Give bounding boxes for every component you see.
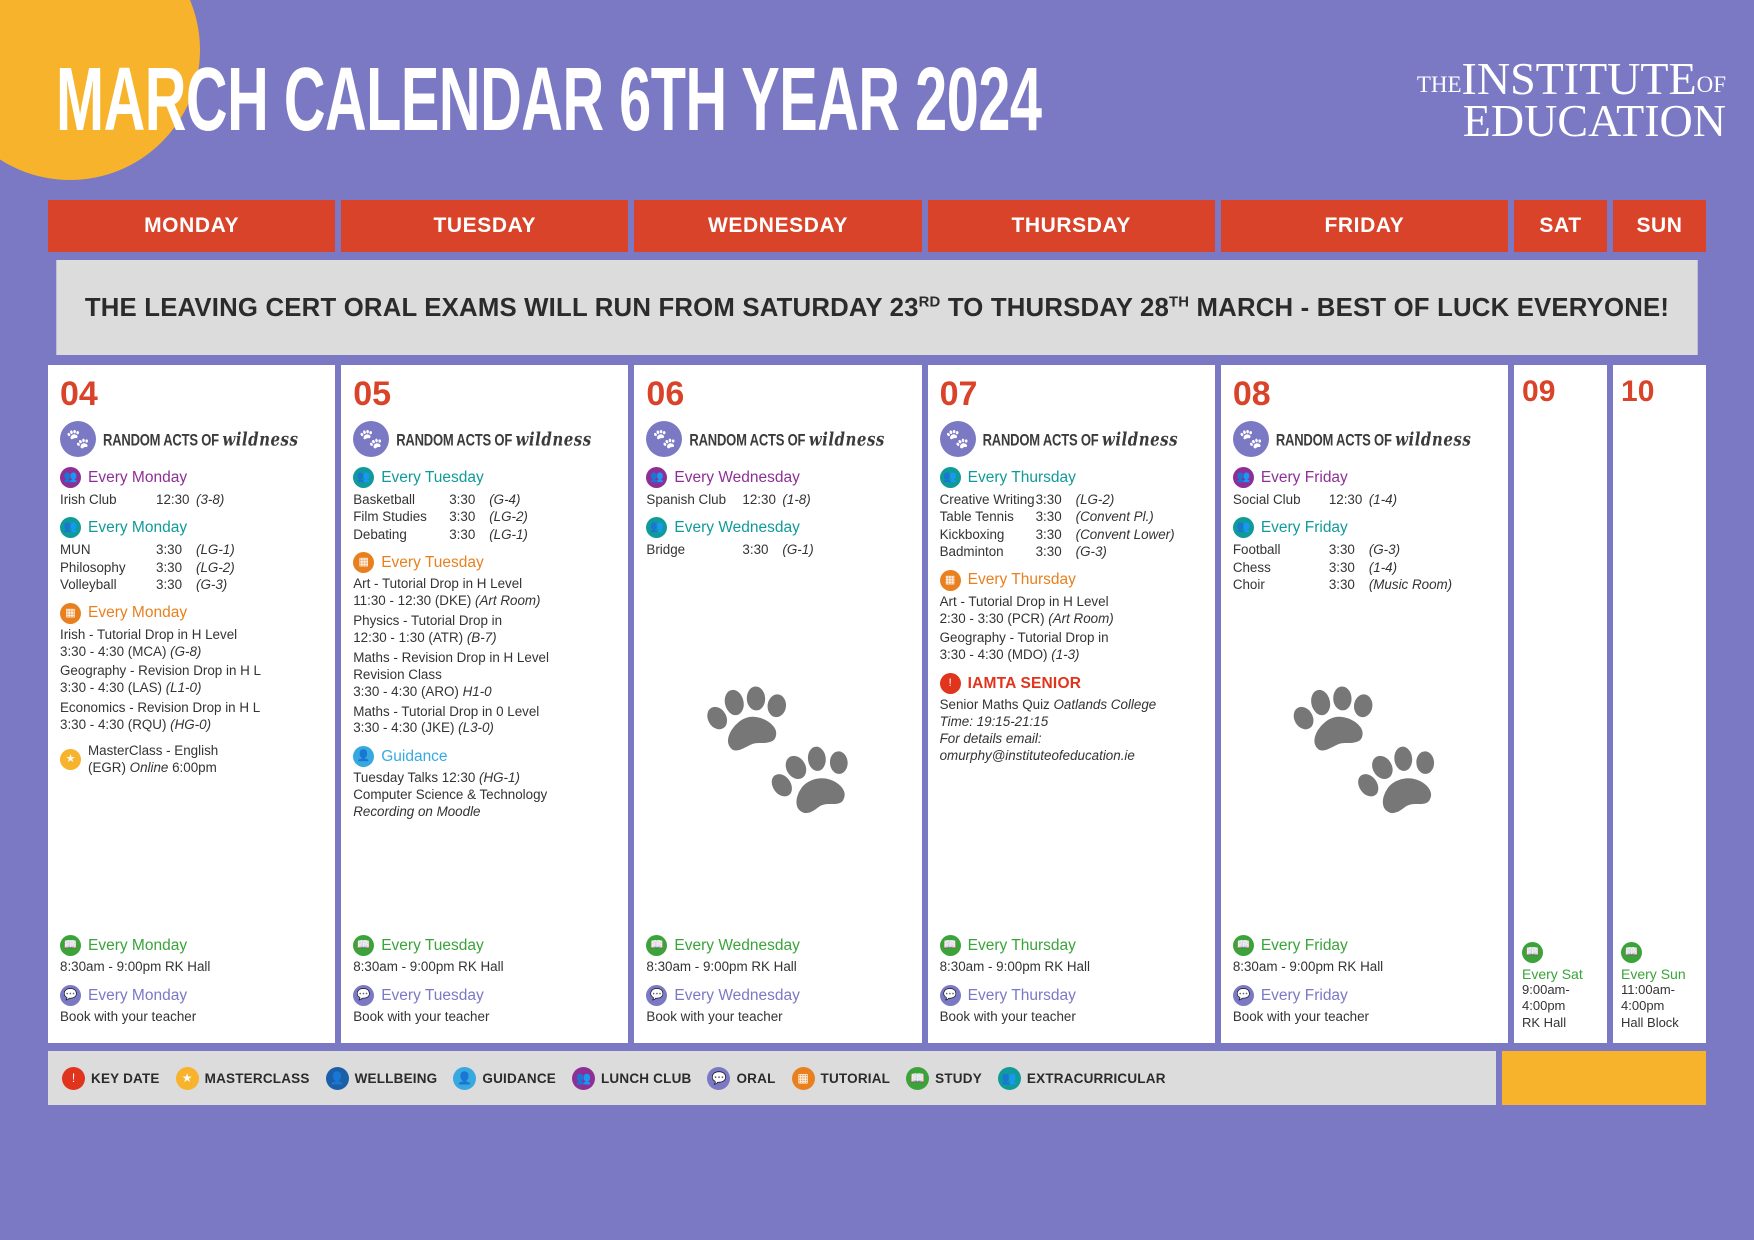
section-header-extra: 👥Every Wednesday xyxy=(646,517,911,538)
tutorial-time: 3:30 - 4:30 (JKE) (L3-0) xyxy=(353,720,618,737)
random-acts-of-wildness-badge: RANDOM ACTS OF wildness xyxy=(940,421,1205,457)
paw-watermark-icon: 🐾 xyxy=(1283,680,1445,810)
club-name: Chess xyxy=(1233,559,1329,576)
club-name: Creative Writing xyxy=(940,491,1036,508)
section-header-lunch: 👥Every Wednesday xyxy=(646,467,911,488)
section-title: Every Monday xyxy=(88,469,187,487)
study-icon: 📖 xyxy=(906,1067,929,1090)
club-row: Basketball3:30(G-4) xyxy=(353,491,618,508)
weekend-study-section: 📖Every Sat9:00am-4:00pmRK Hall xyxy=(1522,942,1599,1031)
legend-item-tutorial: ▦TUTORIAL xyxy=(792,1067,891,1090)
master-icon: ★ xyxy=(176,1067,199,1090)
tutorial-title: Maths - Tutorial Drop in 0 Level xyxy=(353,704,618,721)
day-cell-07[interactable]: 07RANDOM ACTS OF wildness👥Every Thursday… xyxy=(928,365,1215,1043)
tutorial-title: Maths - Revision Drop in H Level xyxy=(353,650,618,667)
institute-logo: THEINSTITUTEOF EDUCATION xyxy=(1417,58,1726,143)
legend-label: EXTRACURRICULAR xyxy=(1027,1071,1166,1086)
section-title: Every Friday xyxy=(1261,469,1348,487)
section-title: Every Tuesday xyxy=(381,469,484,487)
section-tutorial: ▦Every ThursdayArt - Tutorial Drop in H … xyxy=(940,570,1205,665)
day-header-friday: FRIDAY xyxy=(1221,200,1508,252)
key-icon: ! xyxy=(62,1067,85,1090)
study-icon: 📖 xyxy=(646,935,667,956)
club-name: Badminton xyxy=(940,543,1036,560)
section-title: Every Wednesday xyxy=(674,469,800,487)
club-time: 12:30 xyxy=(1329,491,1369,508)
calendar-day-row: 04RANDOM ACTS OF wildness👥Every MondayIr… xyxy=(48,365,1706,1043)
lunch-icon: 👥 xyxy=(646,467,667,488)
section-header-extra: 👥Every Friday xyxy=(1233,517,1498,538)
tutorial-title: Physics - Tutorial Drop in xyxy=(353,613,618,630)
legend-item-extracurricular: 👥EXTRACURRICULAR xyxy=(998,1067,1166,1090)
club-row: Social Club12:30(1-4) xyxy=(1233,491,1498,508)
section-header-extra: 👥Every Tuesday xyxy=(353,467,618,488)
legend-label: MASTERCLASS xyxy=(205,1071,310,1086)
section-header-tutorial: ▦Every Monday xyxy=(60,603,325,624)
random-acts-label: RANDOM ACTS OF wildness xyxy=(689,428,884,451)
section-title: Every Thursday xyxy=(968,469,1076,487)
banner-part2: TO THURSDAY 28 xyxy=(940,292,1169,322)
section-header-oral: 💬Every Monday xyxy=(60,985,325,1006)
section-title: Every Wednesday xyxy=(674,937,800,955)
banner-part3: MARCH - BEST OF LUCK EVERYONE! xyxy=(1189,292,1669,322)
section-title: IAMTA SENIOR xyxy=(968,675,1081,693)
day-number: 04 xyxy=(60,377,325,411)
study-icon: 📖 xyxy=(940,935,961,956)
detail-line: Book with your teacher xyxy=(940,1009,1205,1026)
club-row: Kickboxing3:30(Convent Lower) xyxy=(940,526,1205,543)
ra-prefix: RANDOM ACTS OF xyxy=(396,430,512,449)
section-header-oral: 💬Every Thursday xyxy=(940,985,1205,1006)
section-header-study: 📖 xyxy=(1621,942,1698,963)
day-header-row: MONDAYTUESDAYWEDNESDAYTHURSDAYFRIDAYSATS… xyxy=(48,200,1706,252)
detail-line: Senior Maths Quiz Oatlands College xyxy=(940,697,1205,714)
legend-bar: !KEY DATE★MASTERCLASS👤WELLBEING👤GUIDANCE… xyxy=(48,1051,1496,1105)
day-header-tuesday: TUESDAY xyxy=(341,200,628,252)
page-header: MARCH CALENDAR 6TH YEAR 2024 THEINSTITUT… xyxy=(0,0,1754,200)
oral-icon: 💬 xyxy=(707,1067,730,1090)
tutorial-entry: Maths - Revision Drop in H LevelRevision… xyxy=(353,650,618,701)
club-row: Chess3:30(1-4) xyxy=(1233,559,1498,576)
section-lunch: 👥Every MondayIrish Club12:30(3-8) xyxy=(60,467,325,508)
club-name: Film Studies xyxy=(353,508,449,525)
tutorial-icon: ▦ xyxy=(353,552,374,573)
tutorial-icon: ▦ xyxy=(792,1067,815,1090)
club-time: 3:30 xyxy=(1329,576,1369,593)
study-icon: 📖 xyxy=(1621,942,1642,963)
club-row: Volleyball3:30(G-3) xyxy=(60,576,325,593)
section-extra: 👥Every TuesdayBasketball3:30(G-4)Film St… xyxy=(353,467,618,543)
club-time: 3:30 xyxy=(1036,491,1076,508)
day-cell-04[interactable]: 04RANDOM ACTS OF wildness👥Every MondayIr… xyxy=(48,365,335,1043)
random-acts-of-wildness-badge: RANDOM ACTS OF wildness xyxy=(60,421,325,457)
section-header-tutorial: ▦Every Tuesday xyxy=(353,552,618,573)
day-bottom-sections: 📖Every Wednesday8:30am - 9:00pm RK Hall💬… xyxy=(646,935,911,1035)
legend-item-lunch-club: 👥LUNCH CLUB xyxy=(572,1067,692,1090)
club-time: 3:30 xyxy=(1036,526,1076,543)
section-title: Every Sat xyxy=(1522,966,1599,982)
tutorial-time: 3:30 - 4:30 (MCA) (G-8) xyxy=(60,644,325,661)
tutorial-entry: Geography - Revision Drop in H L3:30 - 4… xyxy=(60,663,325,697)
day-header-wednesday: WEDNESDAY xyxy=(634,200,921,252)
day-header-sat: SAT xyxy=(1514,200,1607,252)
random-acts-of-wildness-badge: RANDOM ACTS OF wildness xyxy=(1233,421,1498,457)
day-cell-08[interactable]: 08RANDOM ACTS OF wildness👥Every FridaySo… xyxy=(1221,365,1508,1043)
club-row: Film Studies3:30(LG-2) xyxy=(353,508,618,525)
section-title: Every Monday xyxy=(88,937,187,955)
club-time: 12:30 xyxy=(156,491,196,508)
tutorial-title: Irish - Tutorial Drop in H Level xyxy=(60,627,325,644)
club-room: (G-1) xyxy=(782,541,813,558)
calendar-container: MONDAYTUESDAYWEDNESDAYTHURSDAYFRIDAYSATS… xyxy=(0,200,1754,1105)
section-oral: 💬Every FridayBook with your teacher xyxy=(1233,985,1498,1026)
paw-print-icon xyxy=(646,421,682,457)
tutorial-time: 3:30 - 4:30 (LAS) (L1-0) xyxy=(60,680,325,697)
study-icon: 📖 xyxy=(1233,935,1254,956)
section-header-oral: 💬Every Tuesday xyxy=(353,985,618,1006)
detail-line-1: 11:00am- xyxy=(1621,982,1698,998)
legend-label: STUDY xyxy=(935,1071,982,1086)
section-title: Guidance xyxy=(381,748,447,766)
section-title: Every Friday xyxy=(1261,987,1348,1005)
ra-prefix: RANDOM ACTS OF xyxy=(103,430,219,449)
legend-label: LUNCH CLUB xyxy=(601,1071,692,1086)
section-tutorial: ▦Every TuesdayArt - Tutorial Drop in H L… xyxy=(353,552,618,737)
club-room: (1-4) xyxy=(1369,491,1397,508)
day-sections: 👥Every WednesdaySpanish Club12:30(1-8)👥E… xyxy=(646,467,911,568)
oral-icon: 💬 xyxy=(60,985,81,1006)
study-icon: 📖 xyxy=(60,935,81,956)
oral-icon: 💬 xyxy=(353,985,374,1006)
section-key: !IAMTA SENIORSenior Maths Quiz Oatlands … xyxy=(940,673,1205,765)
section-oral: 💬Every WednesdayBook with your teacher xyxy=(646,985,911,1026)
section-header-extra: 👥Every Monday xyxy=(60,517,325,538)
ra-prefix: RANDOM ACTS OF xyxy=(983,430,1099,449)
day-sections: 👥Every ThursdayCreative Writing3:30(LG-2… xyxy=(940,467,1205,774)
random-acts-of-wildness-badge: RANDOM ACTS OF wildness xyxy=(353,421,618,457)
section-study: 📖Every Monday8:30am - 9:00pm RK Hall xyxy=(60,935,325,976)
study-icon: 📖 xyxy=(353,935,374,956)
day-number: 10 xyxy=(1621,377,1698,407)
study-icon: 📖 xyxy=(1522,942,1543,963)
section-oral: 💬Every ThursdayBook with your teacher xyxy=(940,985,1205,1026)
ra-script: wildness xyxy=(516,428,592,451)
detail-line: Time: 19:15-21:15 xyxy=(940,714,1205,731)
section-title: Every Sun xyxy=(1621,966,1698,982)
section-header-tutorial: ▦Every Thursday xyxy=(940,570,1205,591)
day-header-sun: SUN xyxy=(1613,200,1706,252)
section-title: Every Tuesday xyxy=(381,937,484,955)
extra-icon: 👥 xyxy=(1233,517,1254,538)
day-cell-06[interactable]: 06RANDOM ACTS OF wildness👥Every Wednesda… xyxy=(634,365,921,1043)
tutorial-entry: Art - Tutorial Drop in H Level2:30 - 3:3… xyxy=(940,594,1205,628)
random-acts-of-wildness-badge: RANDOM ACTS OF wildness xyxy=(646,421,911,457)
club-room: (LG-2) xyxy=(489,508,528,525)
section-header-extra: 👥Every Thursday xyxy=(940,467,1205,488)
tutorial-entry: Maths - Tutorial Drop in 0 Level3:30 - 4… xyxy=(353,704,618,738)
key-icon: ! xyxy=(940,673,961,694)
legend-label: KEY DATE xyxy=(91,1071,160,1086)
section-study: 📖Every Tuesday8:30am - 9:00pm RK Hall xyxy=(353,935,618,976)
lunch-icon: 👥 xyxy=(572,1067,595,1090)
club-time: 3:30 xyxy=(1329,559,1369,576)
club-room: (Convent Lower) xyxy=(1076,526,1175,543)
detail-line: 8:30am - 9:00pm RK Hall xyxy=(940,959,1205,976)
section-title: Every Wednesday xyxy=(674,987,800,1005)
masterclass-line2: (EGR) Online 6:00pm xyxy=(88,760,218,777)
masterclass-text: MasterClass - English(EGR) Online 6:00pm xyxy=(88,743,218,777)
detail-line: 8:30am - 9:00pm RK Hall xyxy=(60,959,325,976)
tutorial-time: 11:30 - 12:30 (DKE) (Art Room) xyxy=(353,593,618,610)
ra-script: wildness xyxy=(222,428,298,451)
section-title: Every Wednesday xyxy=(674,519,800,537)
section-study: 📖Every Friday8:30am - 9:00pm RK Hall xyxy=(1233,935,1498,976)
club-time: 3:30 xyxy=(156,559,196,576)
extra-icon: 👥 xyxy=(940,467,961,488)
oral-icon: 💬 xyxy=(1233,985,1254,1006)
club-name: Bridge xyxy=(646,541,742,558)
club-row: Football3:30(G-3) xyxy=(1233,541,1498,558)
club-row: Badminton3:30(G-3) xyxy=(940,543,1205,560)
section-header-guidance: 👤Guidance xyxy=(353,746,618,767)
section-header-oral: 💬Every Wednesday xyxy=(646,985,911,1006)
tutorial-title: Geography - Tutorial Drop in xyxy=(940,630,1205,647)
club-name: Social Club xyxy=(1233,491,1329,508)
detail-line: Book with your teacher xyxy=(646,1009,911,1026)
club-room: (G-3) xyxy=(196,576,227,593)
day-bottom-sections: 📖Every Tuesday8:30am - 9:00pm RK Hall💬Ev… xyxy=(353,935,618,1035)
random-acts-label: RANDOM ACTS OF wildness xyxy=(1276,428,1471,451)
day-sections: 👥Every MondayIrish Club12:30(3-8)👥Every … xyxy=(60,467,325,786)
legend-label: GUIDANCE xyxy=(482,1071,556,1086)
section-title: Every Friday xyxy=(1261,937,1348,955)
club-room: (LG-2) xyxy=(196,559,235,576)
detail-line: 8:30am - 9:00pm RK Hall xyxy=(646,959,911,976)
legend-item-key-date: !KEY DATE xyxy=(62,1067,160,1090)
logo-of: OF xyxy=(1697,72,1726,97)
section-extra: 👥Every MondayMUN3:30(LG-1)Philosophy3:30… xyxy=(60,517,325,593)
day-cell-05[interactable]: 05RANDOM ACTS OF wildness👥Every TuesdayB… xyxy=(341,365,628,1043)
section-title: Every Thursday xyxy=(968,987,1076,1005)
section-guidance: 👤GuidanceTuesday Talks 12:30 (HG-1)Compu… xyxy=(353,746,618,821)
club-room: (G-4) xyxy=(489,491,520,508)
day-bottom-sections: 📖Every Thursday8:30am - 9:00pm RK Hall💬E… xyxy=(940,935,1205,1035)
tutorial-entry: Physics - Tutorial Drop in12:30 - 1:30 (… xyxy=(353,613,618,647)
legend-item-study: 📖STUDY xyxy=(906,1067,982,1090)
detail-line: Book with your teacher xyxy=(1233,1009,1498,1026)
day-bottom-sections: 📖Every Monday8:30am - 9:00pm RK Hall💬Eve… xyxy=(60,935,325,1035)
club-name: MUN xyxy=(60,541,156,558)
club-room: (G-3) xyxy=(1076,543,1107,560)
club-room: (G-3) xyxy=(1369,541,1400,558)
section-header-study: 📖Every Wednesday xyxy=(646,935,911,956)
club-name: Table Tennis xyxy=(940,508,1036,525)
club-time: 3:30 xyxy=(1036,543,1076,560)
section-title: Every Monday xyxy=(88,987,187,1005)
section-title: Every Tuesday xyxy=(381,987,484,1005)
ra-prefix: RANDOM ACTS OF xyxy=(689,430,805,449)
tutorial-entry: Geography - Tutorial Drop in3:30 - 4:30 … xyxy=(940,630,1205,664)
extra-icon: 👥 xyxy=(60,517,81,538)
day-number: 07 xyxy=(940,377,1205,411)
club-time: 3:30 xyxy=(449,491,489,508)
banner-part1: THE LEAVING CERT ORAL EXAMS WILL RUN FRO… xyxy=(85,292,919,322)
detail-line-2: 4:00pm xyxy=(1621,998,1698,1014)
legend-row: !KEY DATE★MASTERCLASS👤WELLBEING👤GUIDANCE… xyxy=(48,1051,1706,1105)
page-title: MARCH CALENDAR 6TH YEAR 2024 xyxy=(56,49,1042,152)
paw-watermark-icon: 🐾 xyxy=(697,680,859,810)
tutorial-icon: ▦ xyxy=(940,570,961,591)
section-title: Every Monday xyxy=(88,604,187,622)
club-room: (LG-2) xyxy=(1076,491,1115,508)
club-row: Creative Writing3:30(LG-2) xyxy=(940,491,1205,508)
banner-sup2: TH xyxy=(1169,293,1189,310)
section-header-study: 📖 xyxy=(1522,942,1599,963)
section-oral: 💬Every TuesdayBook with your teacher xyxy=(353,985,618,1026)
tutorial-time: 3:30 - 4:30 (ARO) H1-0 xyxy=(353,684,618,701)
section-header-study: 📖Every Friday xyxy=(1233,935,1498,956)
section-title: Every Friday xyxy=(1261,519,1348,537)
club-name: Choir xyxy=(1233,576,1329,593)
random-acts-label: RANDOM ACTS OF wildness xyxy=(103,428,298,451)
section-header-study: 📖Every Tuesday xyxy=(353,935,618,956)
paw-print-icon xyxy=(940,421,976,457)
tutorial-subtitle: Revision Class xyxy=(353,667,618,684)
legend-label: ORAL xyxy=(736,1071,775,1086)
paw-print-icon xyxy=(353,421,389,457)
section-title: Every Monday xyxy=(88,519,187,537)
section-extra: 👥Every ThursdayCreative Writing3:30(LG-2… xyxy=(940,467,1205,561)
detail-line: Tuesday Talks 12:30 (HG-1) xyxy=(353,770,618,787)
lunch-icon: 👥 xyxy=(1233,467,1254,488)
day-number: 09 xyxy=(1522,377,1599,407)
club-name: Football xyxy=(1233,541,1329,558)
tutorial-entry: Economics - Revision Drop in H L3:30 - 4… xyxy=(60,700,325,734)
day-number: 08 xyxy=(1233,377,1498,411)
tutorial-entry: Irish - Tutorial Drop in H Level3:30 - 4… xyxy=(60,627,325,661)
oral-icon: 💬 xyxy=(646,985,667,1006)
club-room: (1-8) xyxy=(782,491,810,508)
day-cell-10[interactable]: 10📖Every Sun11:00am-4:00pmHall Block xyxy=(1613,365,1706,1043)
ra-script: wildness xyxy=(1395,428,1471,451)
tutorial-entry: Art - Tutorial Drop in H Level11:30 - 12… xyxy=(353,576,618,610)
club-row: Bridge3:30(G-1) xyxy=(646,541,911,558)
random-acts-label: RANDOM ACTS OF wildness xyxy=(396,428,591,451)
section-header-key: !IAMTA SENIOR xyxy=(940,673,1205,694)
detail-line: Book with your teacher xyxy=(353,1009,618,1026)
extra-icon: 👥 xyxy=(998,1067,1021,1090)
section-master: ★MasterClass - English(EGR) Online 6:00p… xyxy=(60,743,325,777)
club-room: (Music Room) xyxy=(1369,576,1452,593)
oral-icon: 💬 xyxy=(940,985,961,1006)
tutorial-time: 12:30 - 1:30 (ATR) (B-7) xyxy=(353,630,618,647)
section-header-study: 📖Every Monday xyxy=(60,935,325,956)
day-sections: 👥Every FridaySocial Club12:30(1-4)👥Every… xyxy=(1233,467,1498,603)
day-number: 06 xyxy=(646,377,911,411)
club-time: 3:30 xyxy=(1329,541,1369,558)
weekend-study-section: 📖Every Sun11:00am-4:00pmHall Block xyxy=(1621,942,1698,1031)
tutorial-time: 3:30 - 4:30 (RQU) (HG-0) xyxy=(60,717,325,734)
section-oral: 💬Every MondayBook with your teacher xyxy=(60,985,325,1026)
section-title: Every Thursday xyxy=(968,937,1076,955)
tutorial-icon: ▦ xyxy=(60,603,81,624)
section-header-oral: 💬Every Friday xyxy=(1233,985,1498,1006)
detail-line-1: 9:00am- xyxy=(1522,982,1599,998)
tutorial-time: 2:30 - 3:30 (PCR) (Art Room) xyxy=(940,611,1205,628)
legend-item-masterclass: ★MASTERCLASS xyxy=(176,1067,310,1090)
section-study: 📖Every Thursday8:30am - 9:00pm RK Hall xyxy=(940,935,1205,976)
masterclass-header: ★MasterClass - English(EGR) Online 6:00p… xyxy=(60,743,325,777)
banner-sup1: RD xyxy=(919,293,941,310)
club-room: (Convent Pl.) xyxy=(1076,508,1154,525)
paw-print-icon xyxy=(60,421,96,457)
detail-line: For details email: xyxy=(940,731,1205,748)
logo-education: EDUCATION xyxy=(1463,95,1726,146)
club-row: Choir3:30(Music Room) xyxy=(1233,576,1498,593)
club-row: Table Tennis3:30(Convent Pl.) xyxy=(940,508,1205,525)
club-row: Philosophy3:30(LG-2) xyxy=(60,559,325,576)
ra-script: wildness xyxy=(1102,428,1178,451)
tutorial-title: Geography - Revision Drop in H L xyxy=(60,663,325,680)
detail-line: Computer Science & Technology xyxy=(353,787,618,804)
club-name: Volleyball xyxy=(60,576,156,593)
random-acts-label: RANDOM ACTS OF wildness xyxy=(983,428,1178,451)
club-time: 3:30 xyxy=(742,541,782,558)
day-header-thursday: THURSDAY xyxy=(928,200,1215,252)
section-header-study: 📖Every Thursday xyxy=(940,935,1205,956)
day-number: 05 xyxy=(353,377,618,411)
club-name: Kickboxing xyxy=(940,526,1036,543)
oral-exams-banner: THE LEAVING CERT ORAL EXAMS WILL RUN FRO… xyxy=(56,260,1697,355)
day-header-monday: MONDAY xyxy=(48,200,335,252)
legend-item-guidance: 👤GUIDANCE xyxy=(453,1067,556,1090)
detail-line-2: 4:00pm xyxy=(1522,998,1599,1014)
club-name: Basketball xyxy=(353,491,449,508)
club-room: (LG-1) xyxy=(196,541,235,558)
tutorial-time: 3:30 - 4:30 (MDO) (1-3) xyxy=(940,647,1205,664)
ra-prefix: RANDOM ACTS OF xyxy=(1276,430,1392,449)
tutorial-title: Economics - Revision Drop in H L xyxy=(60,700,325,717)
extra-icon: 👥 xyxy=(353,467,374,488)
section-lunch: 👥Every FridaySocial Club12:30(1-4) xyxy=(1233,467,1498,508)
day-cell-09[interactable]: 09📖Every Sat9:00am-4:00pmRK Hall xyxy=(1514,365,1607,1043)
masterclass-star-icon: ★ xyxy=(60,749,81,770)
detail-line-3: Hall Block xyxy=(1621,1015,1698,1031)
wellbeing-icon: 👤 xyxy=(326,1067,349,1090)
club-time: 12:30 xyxy=(742,491,782,508)
section-header-lunch: 👥Every Friday xyxy=(1233,467,1498,488)
guidance-icon: 👤 xyxy=(453,1067,476,1090)
club-name: Philosophy xyxy=(60,559,156,576)
section-title: Every Thursday xyxy=(968,571,1076,589)
club-room: (LG-1) xyxy=(489,526,528,543)
club-row: MUN3:30(LG-1) xyxy=(60,541,325,558)
detail-line-3: RK Hall xyxy=(1522,1015,1599,1031)
detail-line: 8:30am - 9:00pm RK Hall xyxy=(1233,959,1498,976)
club-room: (1-4) xyxy=(1369,559,1397,576)
section-tutorial: ▦Every MondayIrish - Tutorial Drop in H … xyxy=(60,603,325,734)
tutorial-title: Art - Tutorial Drop in H Level xyxy=(353,576,618,593)
legend-item-wellbeing: 👤WELLBEING xyxy=(326,1067,438,1090)
logo-the: THE xyxy=(1417,72,1462,97)
guidance-icon: 👤 xyxy=(353,746,374,767)
legend-item-oral: 💬ORAL xyxy=(707,1067,775,1090)
legend-label: TUTORIAL xyxy=(821,1071,891,1086)
legend-label: WELLBEING xyxy=(355,1071,438,1086)
section-lunch: 👥Every WednesdaySpanish Club12:30(1-8) xyxy=(646,467,911,508)
detail-line: 8:30am - 9:00pm RK Hall xyxy=(353,959,618,976)
club-row: Irish Club12:30(3-8) xyxy=(60,491,325,508)
